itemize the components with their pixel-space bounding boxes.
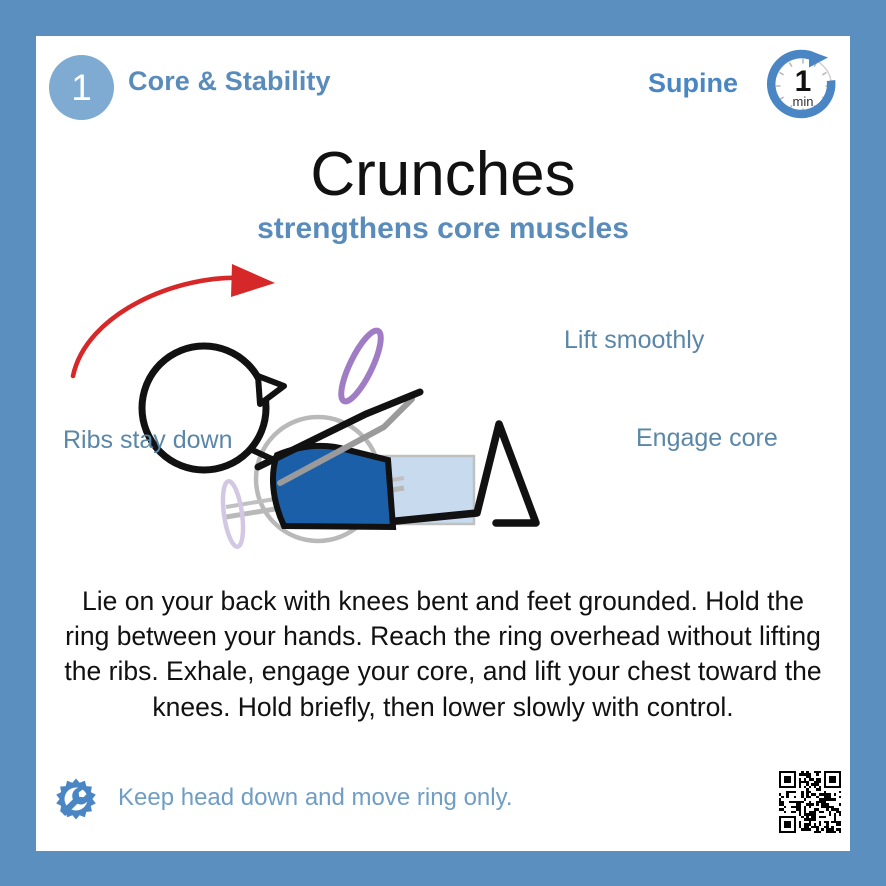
category-label: Core & Stability	[128, 66, 331, 97]
page-subtitle: strengthens core muscles	[36, 212, 850, 246]
tip-text: Keep head down and move ring only.	[118, 784, 513, 812]
cue-ribs-stay-down: Ribs stay down	[63, 426, 233, 455]
card-header: 1 Core & Stability Supine	[36, 36, 850, 146]
exercise-card: 1 Core & Stability Supine	[36, 36, 850, 851]
cue-lift-smoothly: Lift smoothly	[564, 326, 704, 355]
qr-code	[779, 771, 841, 833]
card-footer: Keep head down and move ring only.	[36, 767, 850, 837]
timer-unit: min	[765, 95, 841, 108]
face-wedge	[258, 376, 284, 404]
step-number-badge: 1	[49, 55, 114, 120]
position-label: Supine	[648, 68, 738, 99]
timer-badge: 1 min	[765, 47, 841, 123]
torso	[273, 446, 393, 527]
exercise-description: Lie on your back with knees bent and fee…	[64, 584, 822, 725]
cue-engage-core: Engage core	[636, 424, 778, 453]
timer-value: 1	[765, 67, 841, 97]
gear-wrench-icon	[51, 775, 101, 825]
page-title: Crunches	[36, 141, 850, 209]
exercise-illustration: Ribs stay down Lift smoothly Engage core	[36, 264, 850, 574]
step-number-label: 1	[71, 69, 92, 106]
ring	[334, 326, 388, 406]
stick-figure-diagram	[36, 264, 850, 574]
